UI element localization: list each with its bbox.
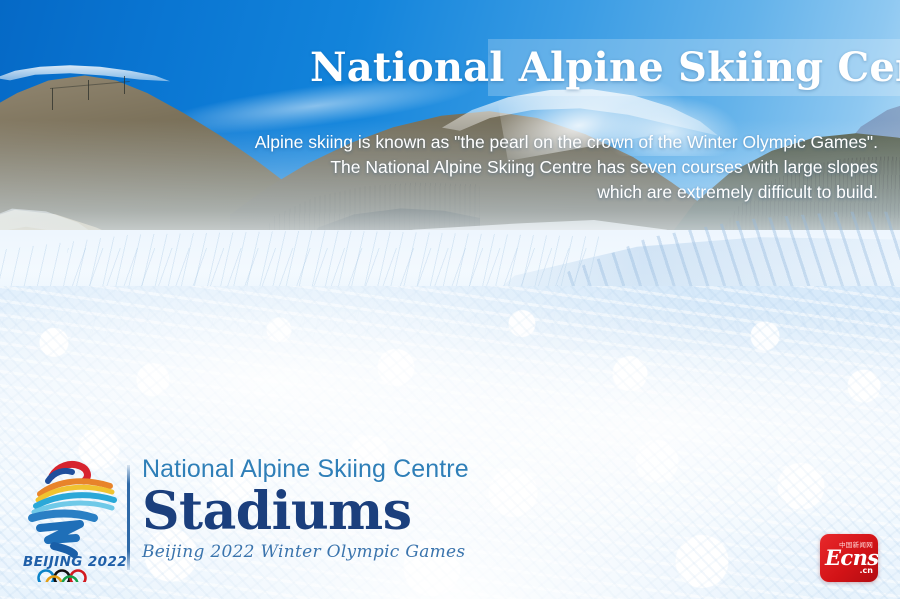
ecns-logo-watermark[interactable]: 中国新闻网 Ecns .cn xyxy=(820,534,878,582)
description-line-3: which are extremely difficult to build. xyxy=(200,180,878,205)
brand-text-block: National Alpine Skiing Centre Stadiums B… xyxy=(142,454,542,564)
brand-event-subtitle: Beijing 2022 Winter Olympic Games xyxy=(142,540,542,564)
description-line-1: Alpine skiing is known as "the pearl on … xyxy=(200,130,878,155)
lift-tower xyxy=(52,88,53,110)
page-title: National Alpine Skiing Centre xyxy=(310,40,882,96)
ecns-brand-text: Ecns xyxy=(825,547,878,568)
ecns-tld-text: .cn xyxy=(860,566,873,575)
brand-divider xyxy=(127,465,130,570)
description-block: Alpine skiing is known as "the pearl on … xyxy=(200,130,878,205)
svg-text:BEIJING 2022: BEIJING 2022 xyxy=(23,554,126,570)
lift-tower xyxy=(124,76,125,94)
branding-block: BEIJING 2022 National Alpine Skiing Cent… xyxy=(18,448,538,588)
brand-series-title: Stadiums xyxy=(142,484,542,540)
description-line-2: The National Alpine Skiing Centre has se… xyxy=(200,155,878,180)
lift-tower xyxy=(88,80,89,100)
poster-image: National Alpine Skiing Centre Alpine ski… xyxy=(0,0,900,599)
brand-venue-name: National Alpine Skiing Centre xyxy=(142,454,542,484)
beijing-2022-emblem-icon: BEIJING 2022 xyxy=(18,450,126,582)
